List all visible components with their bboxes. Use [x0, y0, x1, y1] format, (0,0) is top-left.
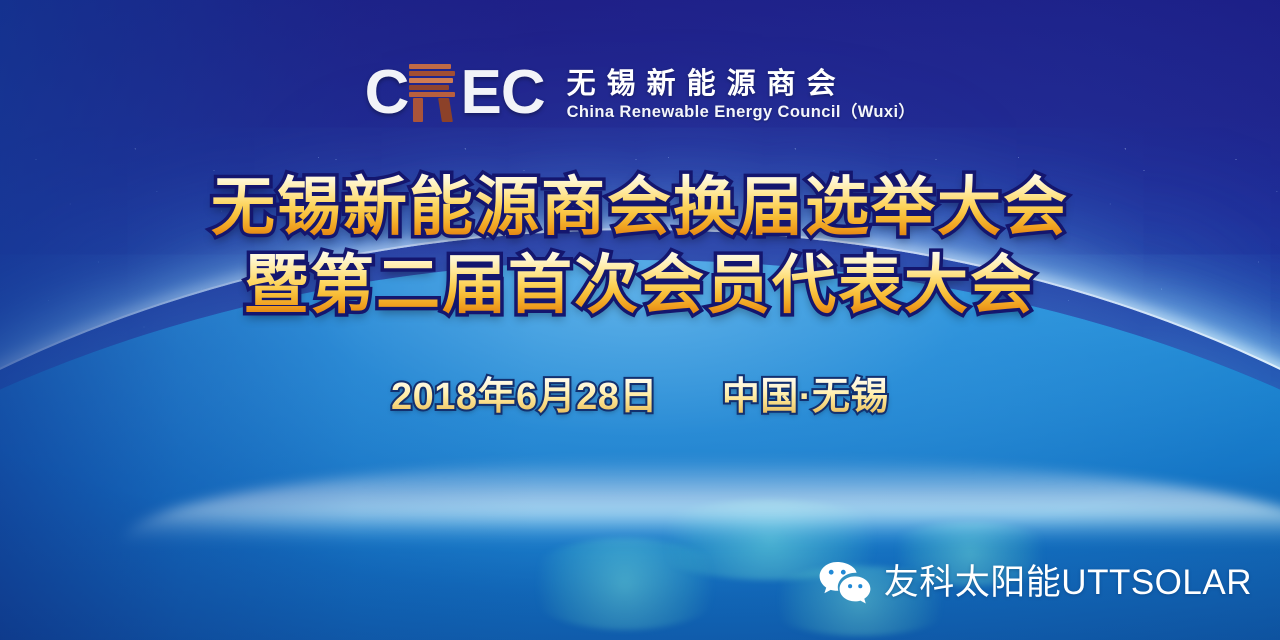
cec-letter-r-solar-icon — [409, 62, 459, 124]
headline-line-1: 无锡新能源商会换届选举大会 无锡新能源商会换届选举大会 — [0, 168, 1280, 246]
poster-headline: 无锡新能源商会换届选举大会 无锡新能源商会换届选举大会 暨第二届首次会员代表大会… — [0, 168, 1280, 324]
event-date: 2018年6月28日 2018年6月28日 — [391, 374, 658, 420]
cec-letter-e: E — [460, 62, 500, 124]
org-name-chinese: 无锡新能源商会 — [567, 70, 916, 99]
event-location: 中国·无锡 中国·无锡 — [722, 374, 889, 420]
org-name-english: China Renewable Energy Council（Wuxi） — [567, 104, 916, 121]
event-date-text: 2018年6月28日 — [391, 376, 658, 418]
cec-letter-c-first: C — [365, 62, 409, 124]
cec-logo-wordmark: 无锡新能源商会 China Renewable Energy Council（W… — [567, 66, 916, 121]
cec-logo: C E C 无锡新能源商会 China Renewable Energy Cou… — [0, 62, 1280, 124]
cec-letter-c-second: C — [501, 62, 545, 124]
headline-line-2: 暨第二届首次会员代表大会 暨第二届首次会员代表大会 — [0, 246, 1280, 324]
wechat-icon — [818, 560, 872, 604]
cec-acronym: C E C — [365, 62, 545, 124]
headline-line-2-text: 暨第二届首次会员代表大会 — [244, 249, 1036, 321]
conference-poster: C E C 无锡新能源商会 China Renewable Energy Cou… — [0, 0, 1280, 640]
wechat-watermark: 友科太阳能UTTSOLAR — [818, 560, 1252, 604]
wechat-account-name: 友科太阳能UTTSOLAR — [884, 565, 1252, 600]
headline-line-1-text: 无锡新能源商会换届选举大会 — [211, 171, 1069, 243]
event-meta: 2018年6月28日 2018年6月28日 中国·无锡 中国·无锡 — [0, 374, 1280, 420]
event-location-text: 中国·无锡 — [722, 376, 889, 418]
